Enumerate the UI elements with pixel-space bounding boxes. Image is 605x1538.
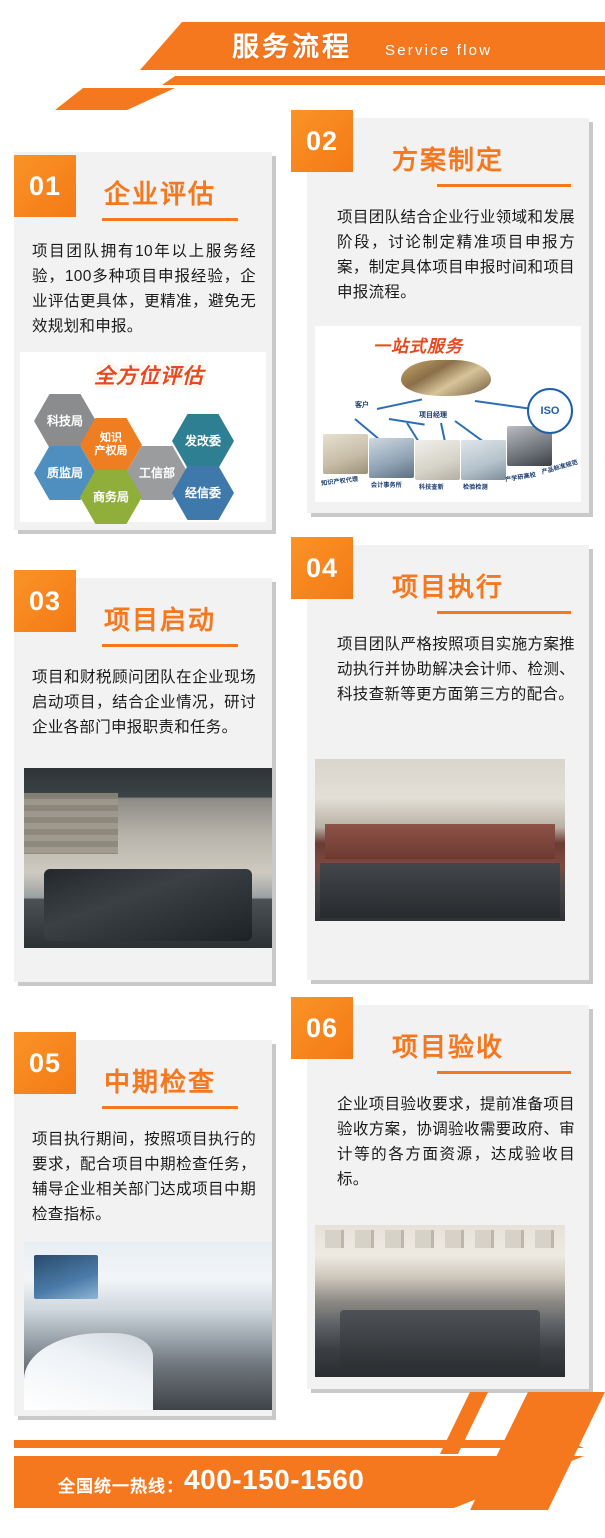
conference-room-photo [24,768,272,948]
footer-stripe-shape [14,1440,584,1448]
step-number-badge-02: 02 [291,110,353,172]
meeting-hall-photo [315,1225,565,1377]
header-stripe-shape [162,76,605,85]
step-card-02: 方案制定 项目团队结合企业行业领域和发展阶段，讨论制定精准项目申报方案，制定具体… [307,118,589,513]
page-subtitle: Service flow [385,40,492,62]
onestop-manager-label: 项目经理 [419,410,447,420]
onestop-node-label: 会计事务所 [371,480,402,489]
step-body-01: 项目团队拥有10年以上服务经验，100多种项目申报经验，企业评估更具体，更精准，… [14,221,272,339]
step-number-badge-01: 01 [14,155,76,217]
step-number-badge-05: 05 [14,1032,76,1094]
step-body-06: 企业项目验收要求，提前准备项目验收方案，协调验收需要政府、审计等的各方面资源，达… [307,1074,589,1192]
step-body-04: 项目团队严格按照项目实施方案推动执行并协助解决会计师、检测、科技查新等更方面第三… [307,614,589,707]
iso-seal-icon: ISO [527,388,573,434]
page-title: 服务流程 [232,30,352,64]
onestop-center-photo [401,360,491,396]
onestop-arrow [475,400,531,410]
onestop-node-label: 知识产权代理 [321,474,359,487]
step-body-03: 项目和财税顾问团队在企业现场启动项目，结合企业情况，研讨企业各部门申报职责和任务… [14,647,272,740]
one-stop-service-diagram: 一站式服务 客户 项目经理 知识产权代理 会计事务所 科技查新 检验检测 产学研… [315,326,581,502]
step-card-06: 项目验收 企业项目验收要求，提前准备项目验收方案，协调验收需要政府、审计等的各方… [307,1005,589,1389]
step-body-02: 项目团队结合企业行业领域和发展阶段，讨论制定精准项目申报方案，制定具体项目申报时… [307,187,589,305]
step-card-03: 项目启动 项目和财税顾问团队在企业现场启动项目，结合企业情况，研讨企业各部门申报… [14,578,272,982]
hotline-number[interactable]: 400-150-1560 [184,1464,364,1496]
onestop-node-label: 检验检测 [463,482,488,491]
step-card-04: 项目执行 项目团队严格按照项目实施方案推动执行并协助解决会计师、检测、科技查新等… [307,545,589,980]
hotline-label: 全国统一热线： [58,1472,184,1497]
header-banner-shape [140,22,605,70]
hex-node-fagai: 发改委 [172,414,234,468]
all-round-assessment-diagram: 全方位评估 科技局 知识产权局 质监局 工信部 商务局 发改委 经信委 [20,352,266,522]
step-card-05: 中期检查 项目执行期间，按照项目执行的要求，配合项目中期检查任务，辅导企业相关部… [14,1040,272,1416]
step-body-05: 项目执行期间，按照项目执行的要求，配合项目中期检查任务，辅导企业相关部门达成项目… [14,1109,272,1227]
onestop-node-label: 科技查新 [419,482,444,491]
header-accent-shape [55,88,175,110]
onestop-node-photo [461,440,506,480]
step-number-badge-04: 04 [291,537,353,599]
onestop-arrow [377,398,422,410]
showroom-visit-photo [24,1242,272,1410]
onestop-node-photo [415,440,460,480]
hex-diagram-title: 全方位评估 [94,360,204,390]
step-number-badge-03: 03 [14,570,76,632]
step-number-badge-06: 06 [291,997,353,1059]
onestop-title: 一站式服务 [373,332,463,357]
page-header: 服务流程 Service flow [0,0,605,105]
onestop-node-photo [369,438,414,478]
onestop-node-photo [323,434,368,474]
team-working-photo [315,759,565,921]
onestop-node-label: 产学研高校 [504,469,536,483]
onestop-client-label: 客户 [355,400,369,410]
